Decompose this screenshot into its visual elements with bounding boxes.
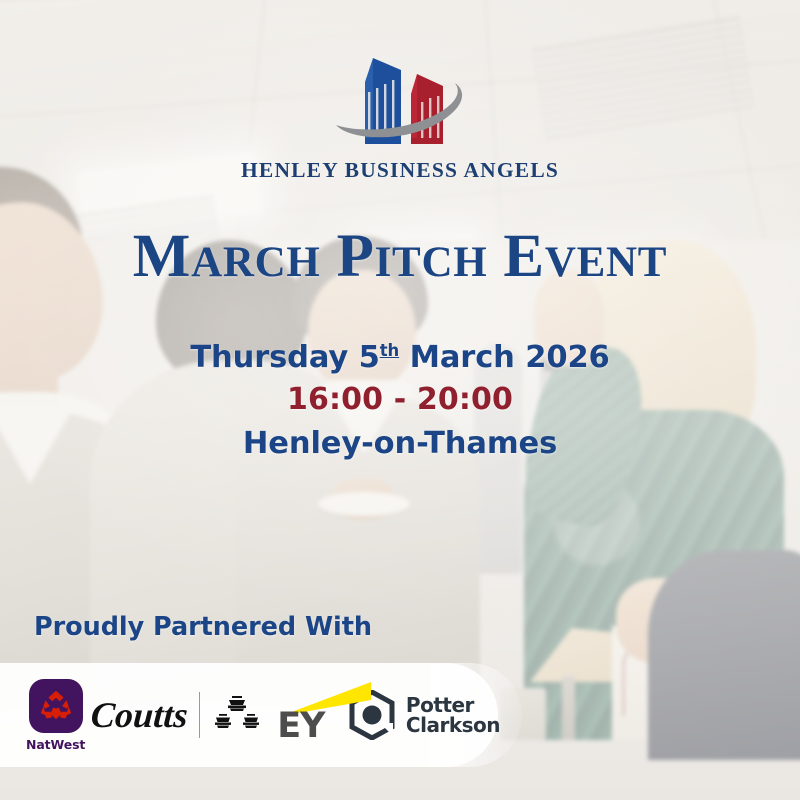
natwest-logo-icon	[29, 679, 83, 733]
event-details: Thursday 5th March 2026 16:00 - 20:00 He…	[0, 336, 800, 465]
divider	[199, 692, 200, 738]
henley-business-angels-logo-icon	[305, 52, 495, 152]
event-date-prefix: Thursday 5	[190, 340, 379, 375]
event-poster: HENLEY BUSINESS ANGELS March Pitch Event…	[0, 0, 800, 800]
partner-natwest: NatWest	[22, 679, 89, 752]
partner-logos: NatWest Coutts	[0, 663, 500, 767]
potter-clarkson-line1: Potter	[406, 695, 500, 715]
partner-ey: EY	[277, 684, 333, 746]
coutts-crowns-icon	[211, 692, 263, 738]
page-title: March Pitch Event	[0, 226, 800, 287]
potter-clarkson-wordmark: Potter Clarkson	[406, 695, 500, 736]
event-location: Henley-on-Thames	[0, 422, 800, 465]
event-date-ordinal: th	[380, 341, 399, 360]
event-date-suffix: March 2026	[399, 340, 610, 375]
brand-logo: HENLEY BUSINESS ANGELS	[0, 52, 800, 183]
natwest-cycle-icon	[37, 687, 75, 725]
event-time: 16:00 - 20:00	[0, 379, 800, 422]
partners-heading: Proudly Partnered With	[34, 612, 372, 642]
potter-clarkson-line2: Clarkson	[406, 715, 500, 735]
partner-coutts: Coutts	[91, 692, 263, 738]
ey-wordmark: EY	[277, 706, 324, 746]
natwest-label: NatWest	[26, 737, 85, 752]
coutts-wordmark: Coutts	[90, 694, 190, 736]
event-date: Thursday 5th March 2026	[0, 336, 800, 379]
brand-wordmark: HENLEY BUSINESS ANGELS	[0, 158, 800, 183]
